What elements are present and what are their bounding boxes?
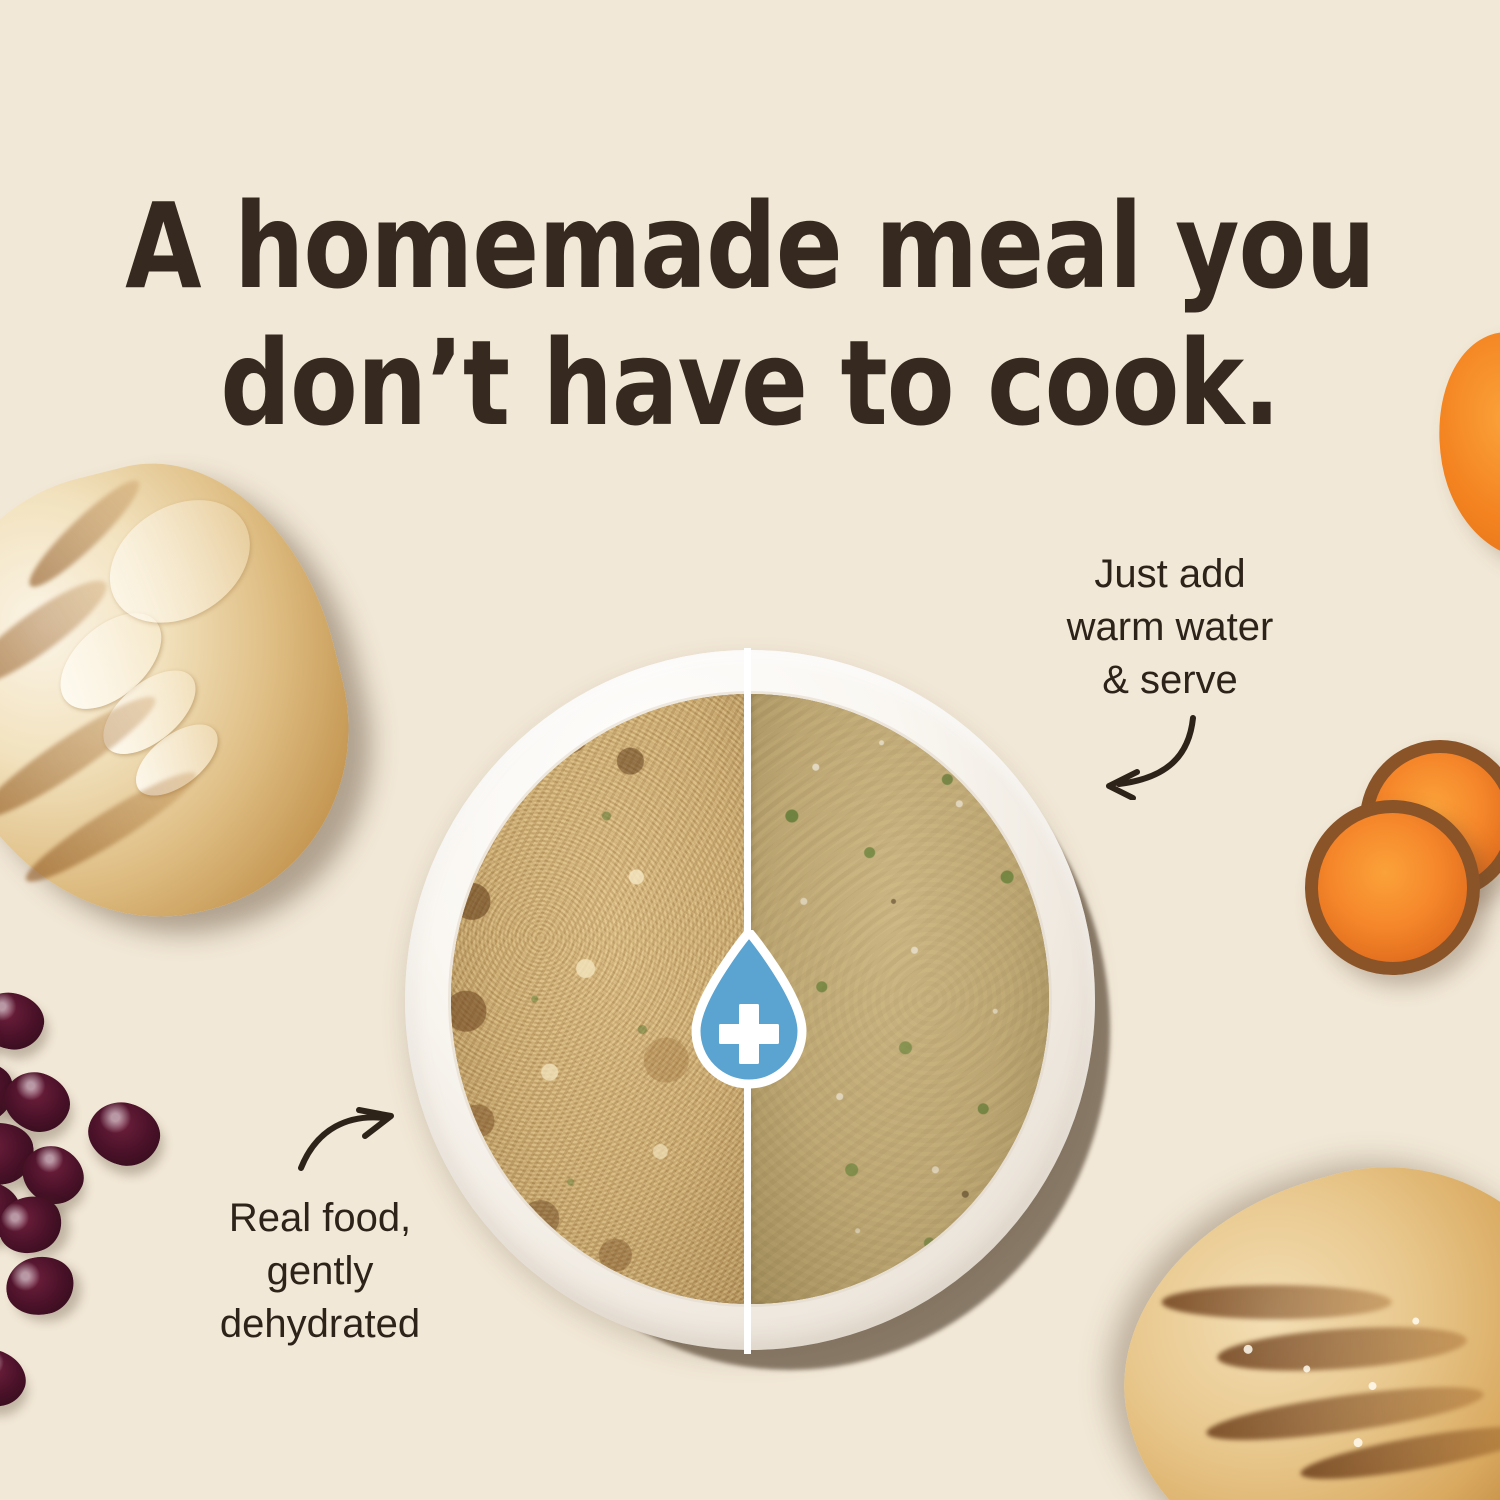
cranberry xyxy=(81,1094,167,1173)
page-title: A homemade meal you don’t have to cook. xyxy=(53,178,1448,452)
water-drop-plus-icon[interactable] xyxy=(690,930,808,1090)
seared-cod-fillet xyxy=(0,428,388,961)
marketing-banner: A homemade meal you don’t have to cook. … xyxy=(0,0,1500,1500)
sweet-potato-slice xyxy=(1305,800,1480,975)
curved-arrow-down-left-icon xyxy=(1085,710,1205,800)
annotation-real-food-gently-dehydrated: Real food, gently dehydrated xyxy=(150,1192,490,1352)
grilled-chicken-breast xyxy=(1079,1118,1500,1500)
cranberry xyxy=(0,1340,35,1416)
curved-arrow-up-right-icon xyxy=(295,1098,405,1178)
cranberry xyxy=(0,987,49,1055)
cranberry xyxy=(1,1251,80,1322)
chicken-char-mark xyxy=(1162,1285,1392,1319)
annotation-just-add-warm-water: Just add warm water & serve xyxy=(1020,548,1320,708)
